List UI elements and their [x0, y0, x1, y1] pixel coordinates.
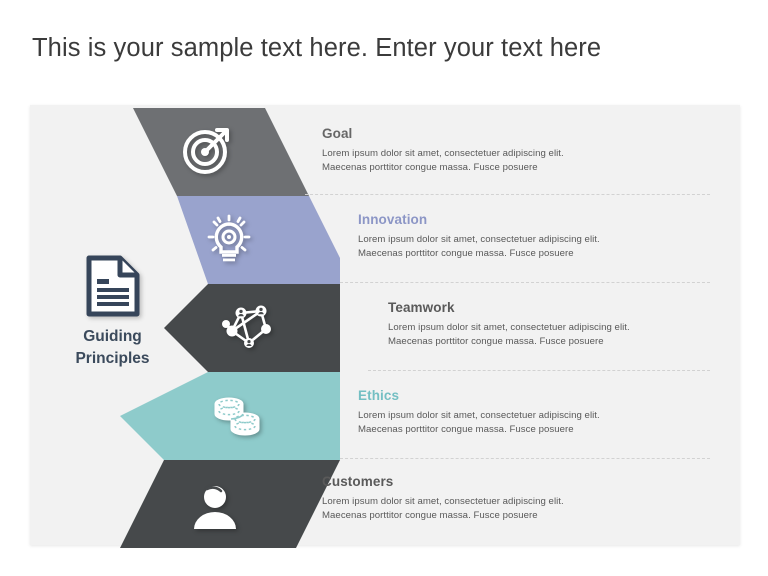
row-heading-goal: Goal — [322, 126, 352, 141]
row-heading-customers: Customers — [322, 474, 393, 489]
row-heading-teamwork: Teamwork — [388, 300, 455, 315]
row-body-innovation: Lorem ipsum dolor sit amet, consectetuer… — [358, 233, 600, 261]
text-row-innovation: Innovation Lorem ipsum dolor sit amet, c… — [0, 196, 768, 284]
row-body-goal: Lorem ipsum dolor sit amet, consectetuer… — [322, 147, 564, 175]
text-row-ethics: Ethics Lorem ipsum dolor sit amet, conse… — [0, 372, 768, 460]
row-separator-3 — [368, 370, 710, 371]
row-heading-ethics: Ethics — [358, 388, 399, 403]
row-body-teamwork: Lorem ipsum dolor sit amet, consectetuer… — [388, 321, 630, 349]
row-body-customers: Lorem ipsum dolor sit amet, consectetuer… — [322, 495, 564, 523]
row-separator-1 — [305, 194, 710, 195]
text-row-customers: Customers Lorem ipsum dolor sit amet, co… — [0, 460, 768, 548]
text-row-teamwork: Teamwork Lorem ipsum dolor sit amet, con… — [0, 284, 768, 372]
slide-canvas: This is your sample text here. Enter you… — [0, 0, 768, 576]
row-separator-4 — [340, 458, 710, 459]
row-heading-innovation: Innovation — [358, 212, 427, 227]
row-body-ethics: Lorem ipsum dolor sit amet, consectetuer… — [358, 409, 600, 437]
page-title: This is your sample text here. Enter you… — [32, 32, 732, 65]
text-row-goal: Goal Lorem ipsum dolor sit amet, consect… — [0, 108, 768, 196]
row-separator-2 — [340, 282, 710, 283]
